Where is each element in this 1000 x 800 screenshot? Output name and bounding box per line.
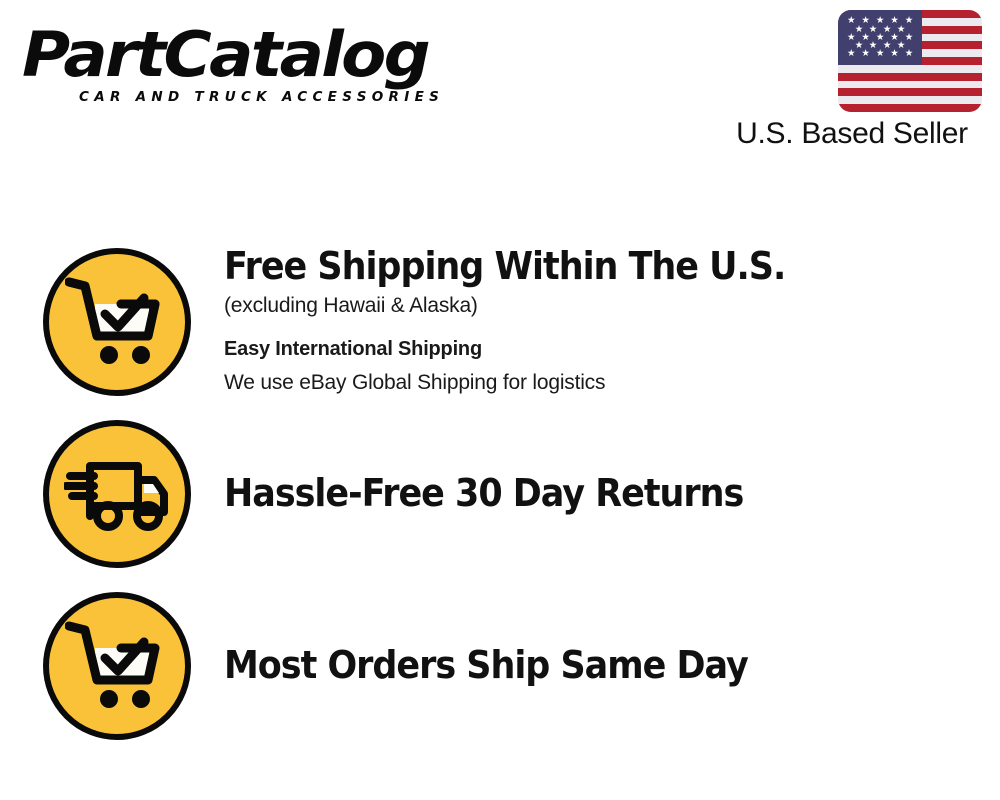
star-icon: ★ xyxy=(905,16,914,26)
spacer xyxy=(224,323,834,332)
feature-title: Hassle-Free 30 Day Returns xyxy=(224,470,743,516)
shopping-cart-check-icon xyxy=(43,248,191,396)
star-icon: ★ xyxy=(890,49,899,59)
flag-stripe xyxy=(838,88,982,96)
delivery-truck-icon xyxy=(43,420,191,568)
star-icon: ★ xyxy=(876,49,885,59)
feature-text: Most Orders Ship Same Day xyxy=(224,642,793,690)
feature-subtitle: (excluding Hawaii & Alaska) xyxy=(224,289,834,323)
flag-stripe xyxy=(838,73,982,81)
brand-wordmark: PartCatalog xyxy=(22,22,520,88)
feature-title: Free Shipping Within The U.S. xyxy=(224,243,785,289)
feature-row: Free Shipping Within The U.S. (excluding… xyxy=(0,236,1000,408)
feature-text: Free Shipping Within The U.S. (excluding… xyxy=(224,243,834,402)
star-icon: ★ xyxy=(905,49,914,59)
flag-stripe xyxy=(838,65,982,73)
partcatalog-logo[interactable]: PartCatalog CAR AND TRUCK ACCESSORIES xyxy=(22,22,492,117)
star-icon: ★ xyxy=(861,49,870,59)
feature-title: Most Orders Ship Same Day xyxy=(224,642,748,688)
flag-canton: ★ ★ ★ ★ ★ ★ ★ ★ ★ ★ ★ ★ ★ ★ xyxy=(838,10,922,65)
us-based-seller-label: U.S. Based Seller xyxy=(720,117,984,151)
flag-stripe xyxy=(838,104,982,112)
star-icon: ★ xyxy=(905,33,914,43)
flag-stripe xyxy=(838,96,982,104)
feature-row: Hassle-Free 30 Day Returns xyxy=(0,408,1000,580)
flag-star-row: ★ ★ ★ ★ ★ xyxy=(844,50,916,58)
feature-text: Hassle-Free 30 Day Returns xyxy=(224,470,788,518)
feature-list: Free Shipping Within The U.S. (excluding… xyxy=(0,236,1000,752)
seller-info-banner: PartCatalog CAR AND TRUCK ACCESSORIES xyxy=(0,0,1000,800)
feature-subtitle-bold: Easy International Shipping xyxy=(224,332,834,366)
feature-row: Most Orders Ship Same Day xyxy=(0,580,1000,752)
flag-stripe xyxy=(838,81,982,89)
us-based-seller-block: ★ ★ ★ ★ ★ ★ ★ ★ ★ ★ ★ ★ ★ ★ xyxy=(838,10,984,151)
star-icon: ★ xyxy=(847,49,856,59)
us-flag-icon: ★ ★ ★ ★ ★ ★ ★ ★ ★ ★ ★ ★ ★ ★ xyxy=(838,10,982,112)
shopping-cart-check-icon xyxy=(43,592,191,740)
feature-subtitle: We use eBay Global Shipping for logistic… xyxy=(224,366,834,400)
brand-tagline: CAR AND TRUCK ACCESSORIES xyxy=(79,89,492,105)
